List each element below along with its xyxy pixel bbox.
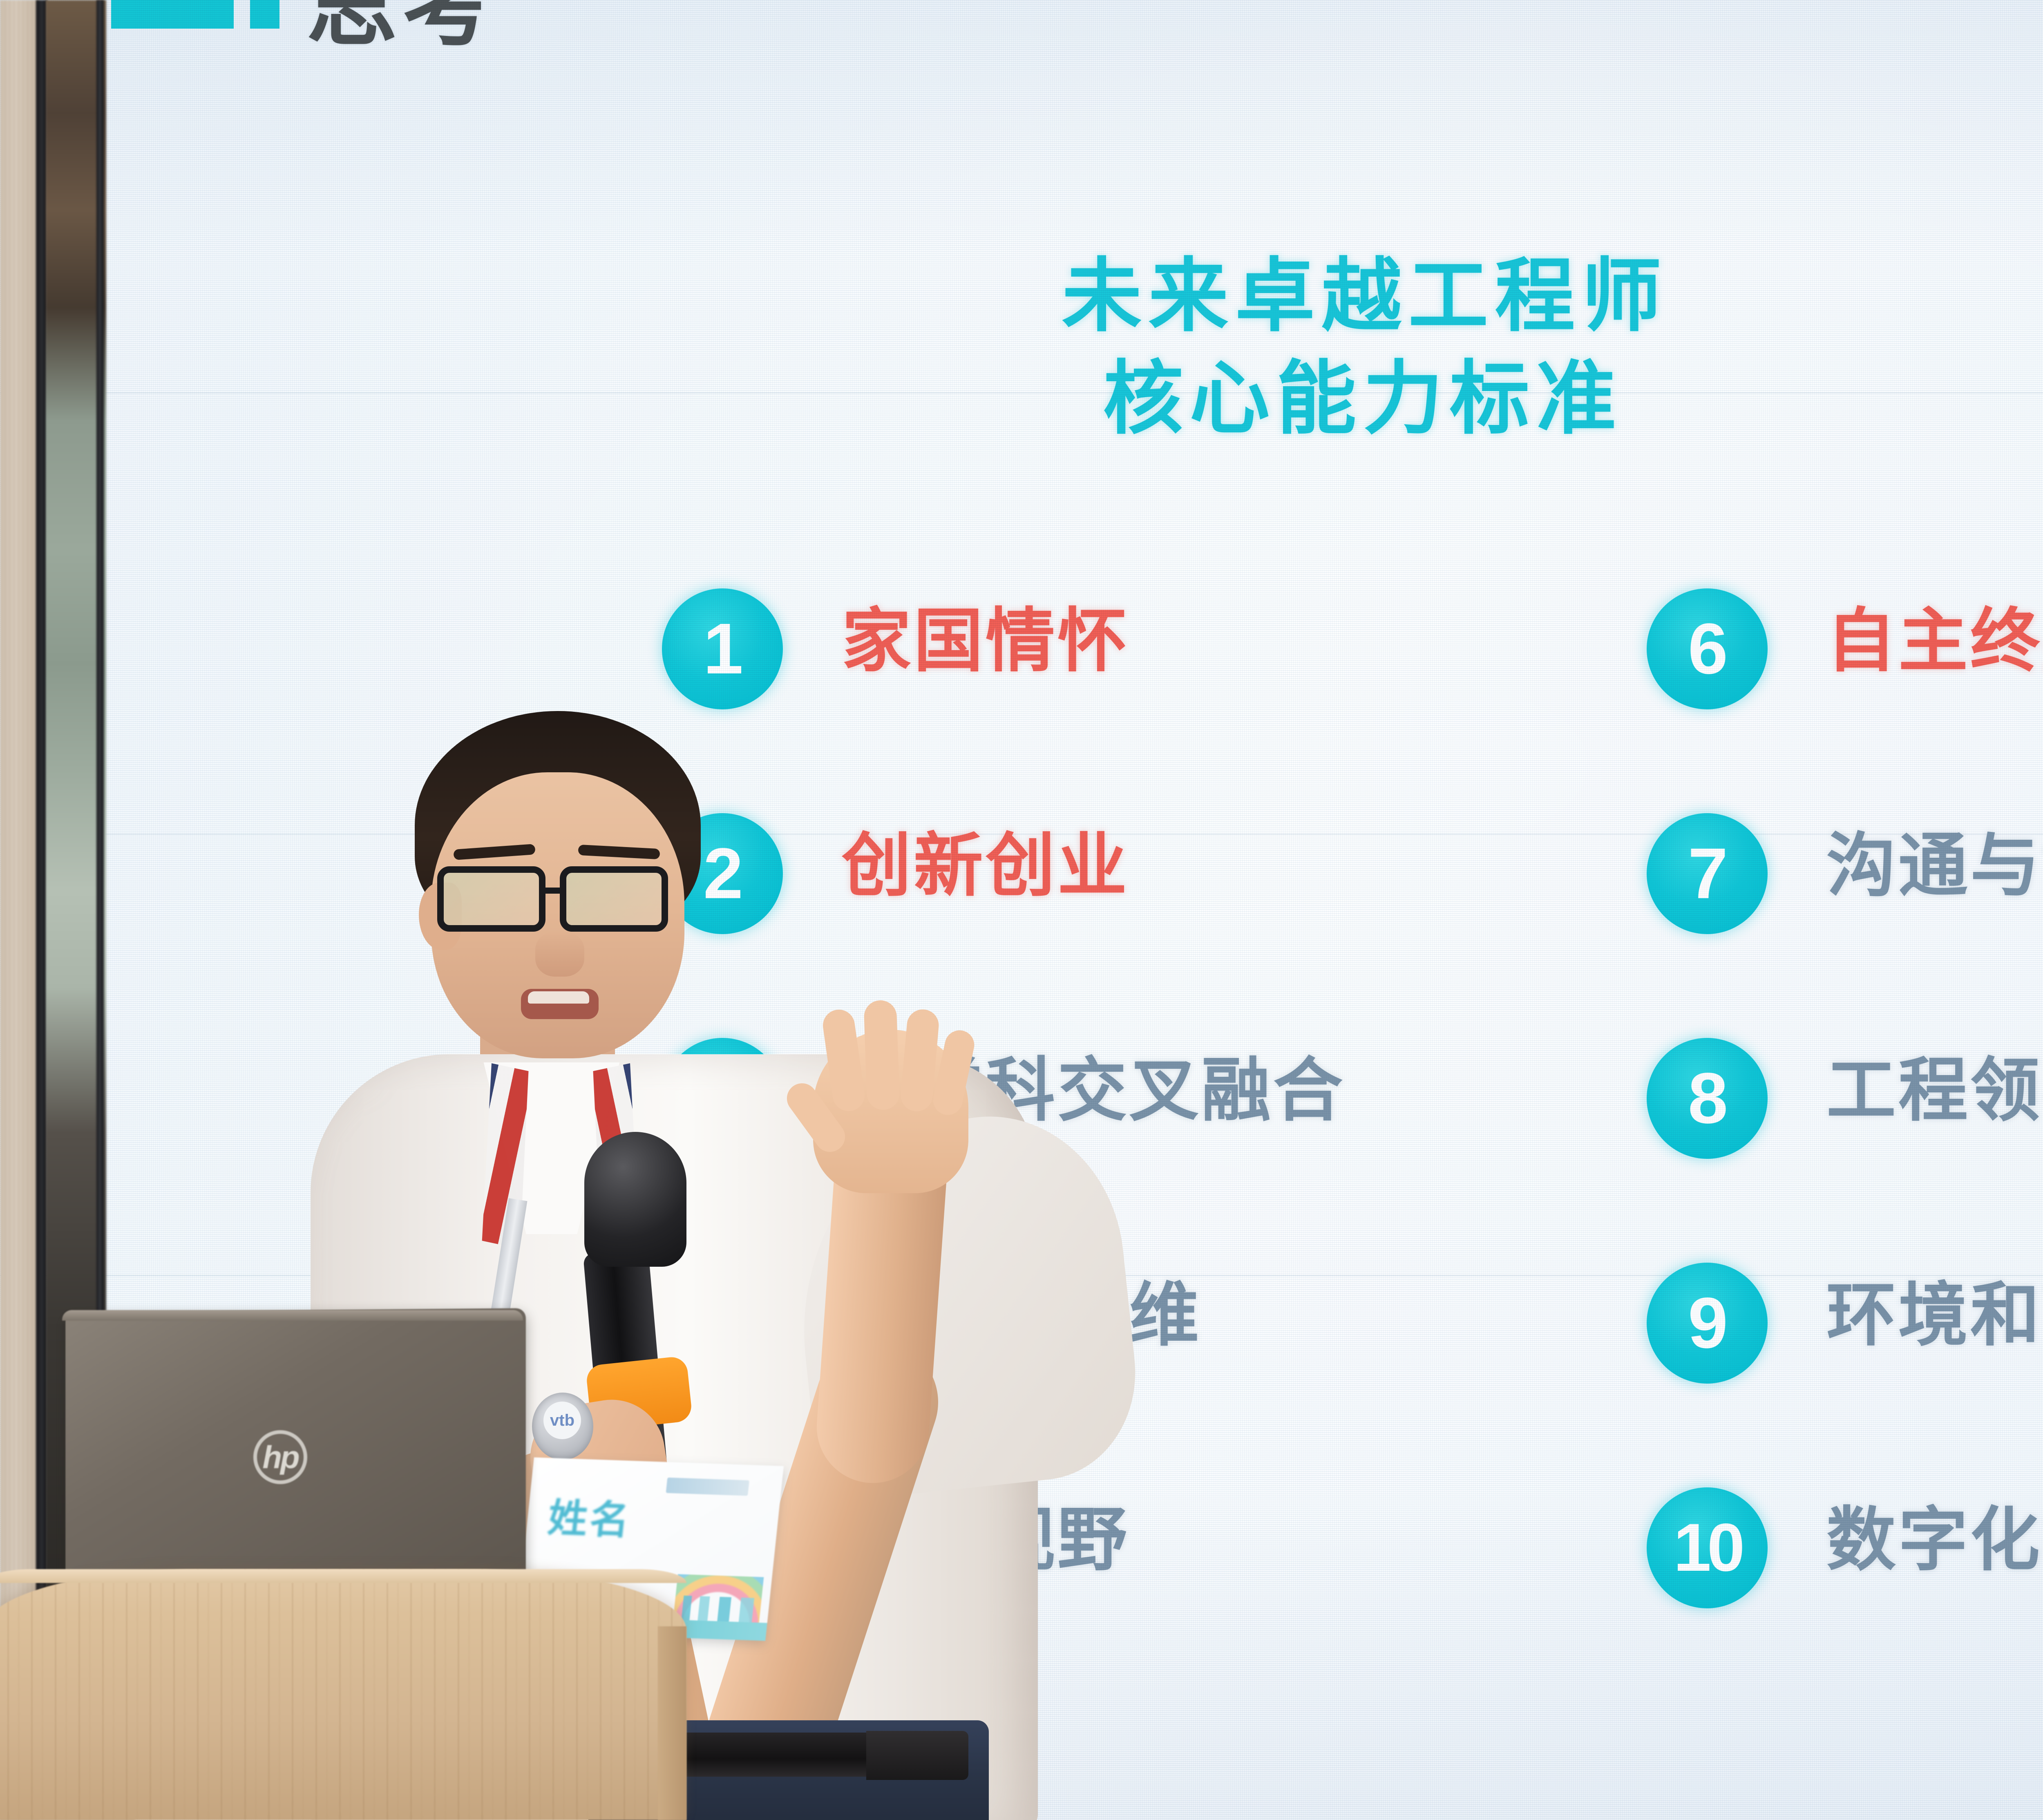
nose [535,932,584,977]
belt-tip [866,1731,968,1780]
badge-name-text: 姓名 [546,1498,634,1542]
finger [863,1000,900,1111]
podium-top-edge [0,1569,686,1583]
screenshot-root: 思考 未来卓越工程师 核心能力标准 1 家国情怀 2 创新创业 3 跨学科交叉融… [0,0,2043,1820]
podium-wood-grain [0,1569,686,1820]
podium-side-panel [658,1626,686,1820]
glasses-bridge [543,888,563,894]
badge-org-logo-icon [666,1478,749,1496]
lens-right [560,866,668,932]
wall-grain-texture [0,0,39,1820]
eyeglasses [437,866,691,938]
laptop-hinge-edge [62,1310,523,1321]
room-wall-panel [0,0,39,1820]
podium [0,1569,686,1820]
teeth [528,991,589,1004]
hp-logo-icon: hp [253,1430,307,1484]
microphone-head [584,1132,686,1267]
lanyard-reel-logo: vtb [543,1402,581,1439]
lens-left [437,866,545,932]
